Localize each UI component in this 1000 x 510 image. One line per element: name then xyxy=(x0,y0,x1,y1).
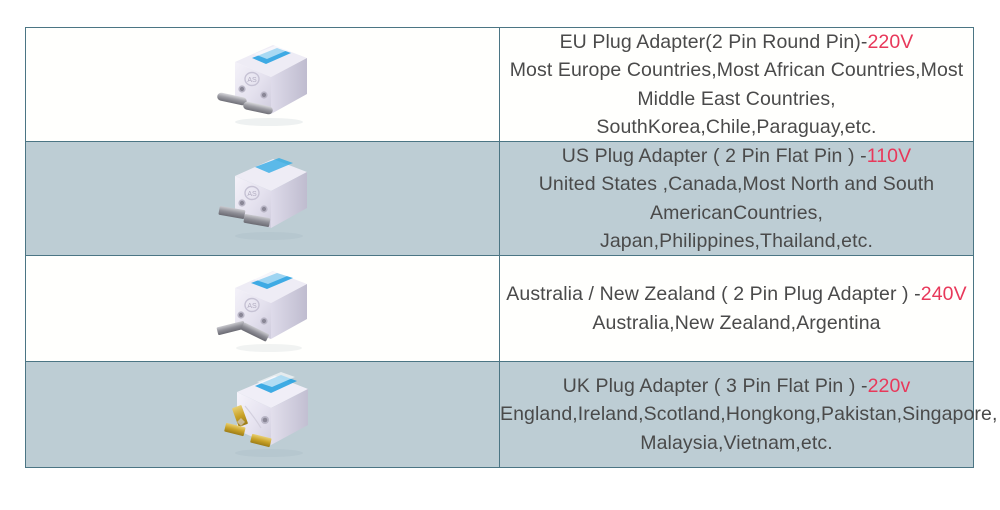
adapter-voltage: 220V xyxy=(867,31,913,53)
au-plug-adapter-image: AS xyxy=(211,256,315,356)
adapter-description-cell: US Plug Adapter ( 2 Pin Flat Pin ) -110V… xyxy=(500,142,974,256)
adapter-image-cell: AS xyxy=(26,28,500,142)
svg-text:AS: AS xyxy=(247,191,257,198)
adapter-image-cell: AS xyxy=(26,142,500,256)
adapter-country-line: SouthKorea,Chile,Paraguay,etc. xyxy=(500,113,973,141)
adapter-title-text: UK Plug Adapter ( 3 Pin Flat Pin ) - xyxy=(563,375,868,397)
svg-text:AS: AS xyxy=(247,303,257,310)
adapter-country-line: Japan,Philippines,Thailand,etc. xyxy=(500,227,973,255)
svg-text:AS: AS xyxy=(247,77,257,84)
table-row: AS Australia / New Zealand ( xyxy=(26,256,974,362)
adapter-voltage: 220v xyxy=(868,375,911,397)
table-row: AS US Plug Adapter ( 2 Pin F xyxy=(26,142,974,256)
adapter-country-line: England,Ireland,Scotland,Hongkong,Pakist… xyxy=(500,400,973,428)
adapter-country-line: Australia,New Zealand,Argentina xyxy=(500,309,973,337)
adapter-description-cell: UK Plug Adapter ( 3 Pin Flat Pin ) -220v… xyxy=(500,362,974,468)
adapter-country-line: Malaysia,Vietnam,etc. xyxy=(500,429,973,457)
adapter-title-text: EU Plug Adapter(2 Pin Round Pin)- xyxy=(560,31,868,53)
plug-adapter-info-page: AS xyxy=(0,0,1000,510)
adapter-title: EU Plug Adapter(2 Pin Round Pin)-220V xyxy=(560,31,914,53)
adapter-description-cell: Australia / New Zealand ( 2 Pin Plug Ada… xyxy=(500,256,974,362)
adapter-voltage: 110V xyxy=(867,145,912,167)
adapter-country-line: Most Europe Countries,Most African Count… xyxy=(500,56,973,113)
adapter-voltage: 240V xyxy=(921,283,967,305)
adapter-title: Australia / New Zealand ( 2 Pin Plug Ada… xyxy=(506,283,966,305)
adapter-title-text: Australia / New Zealand ( 2 Pin Plug Ada… xyxy=(506,283,921,305)
table-row: AS xyxy=(26,28,974,142)
us-plug-adapter-image: AS xyxy=(211,146,315,246)
adapter-title: US Plug Adapter ( 2 Pin Flat Pin ) -110V xyxy=(562,145,911,167)
uk-plug-adapter-image xyxy=(211,362,315,462)
eu-plug-adapter-image: AS xyxy=(211,32,315,132)
adapter-table: AS xyxy=(25,27,974,468)
adapter-title: UK Plug Adapter ( 3 Pin Flat Pin ) -220v xyxy=(563,375,911,397)
adapter-description-cell: EU Plug Adapter(2 Pin Round Pin)-220V Mo… xyxy=(500,28,974,142)
adapter-table-body: AS xyxy=(26,28,974,468)
adapter-title-text: US Plug Adapter ( 2 Pin Flat Pin ) - xyxy=(562,145,867,167)
adapter-image-cell: AS xyxy=(26,256,500,362)
table-row: UK Plug Adapter ( 3 Pin Flat Pin ) -220v… xyxy=(26,362,974,468)
adapter-image-cell xyxy=(26,362,500,468)
adapter-country-line: United States ,Canada,Most North and Sou… xyxy=(500,170,973,227)
